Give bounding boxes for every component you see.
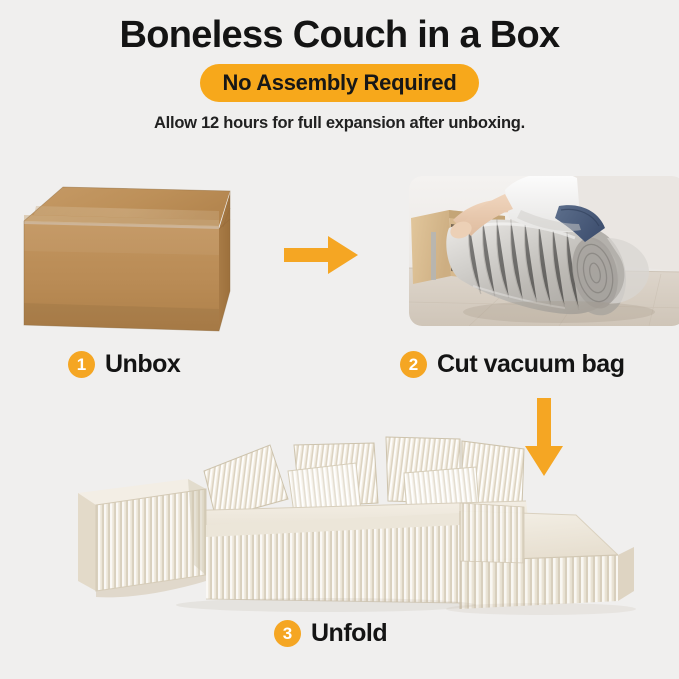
step-2-text: Cut vacuum bag	[437, 350, 624, 379]
step-1-text: Unbox	[105, 350, 180, 379]
step-3-number: 3	[274, 620, 301, 647]
cardboard-box-icon	[14, 163, 276, 338]
step-3-label: 3 Unfold	[274, 619, 387, 648]
step-2-label: 2 Cut vacuum bag	[400, 350, 624, 379]
badge-container: No Assembly Required	[0, 64, 679, 102]
step-1-number: 1	[68, 351, 95, 378]
infographic-page: Boneless Couch in a Box No Assembly Requ…	[0, 0, 679, 679]
arrow-right-icon	[284, 232, 358, 278]
step-2-number: 2	[400, 351, 427, 378]
page-subtitle: Allow 12 hours for full expansion after …	[0, 114, 679, 133]
page-title: Boneless Couch in a Box	[0, 14, 679, 57]
sectional-sofa-illustration	[56, 415, 636, 615]
no-assembly-badge: No Assembly Required	[200, 64, 478, 102]
vacuum-bag-photo	[409, 176, 679, 326]
step-3-text: Unfold	[311, 619, 387, 648]
step-1-label: 1 Unbox	[68, 350, 180, 379]
